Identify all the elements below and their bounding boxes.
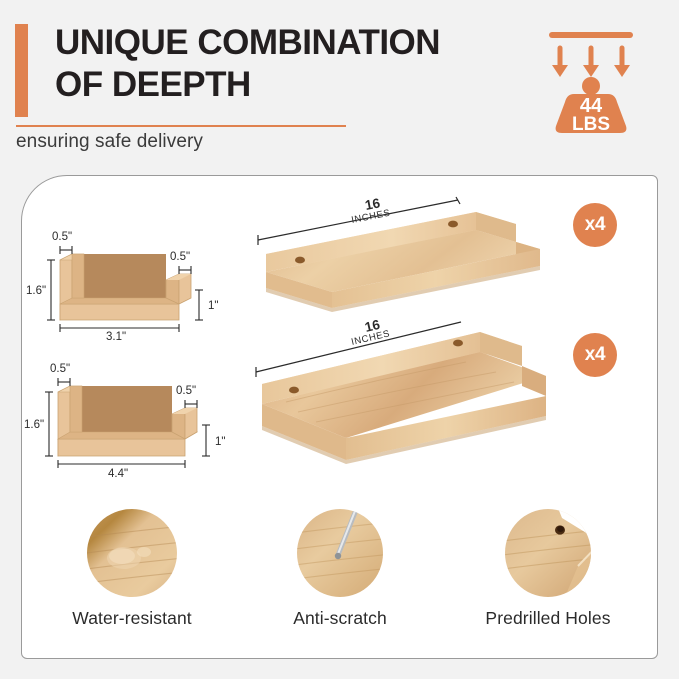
title-divider (16, 125, 346, 127)
dim-lip-height (195, 290, 203, 320)
page-title-line-1: UNIQUE COMBINATION (55, 22, 525, 64)
weight-unit: LBS (572, 114, 610, 135)
feature-label: Anti-scratch (293, 608, 387, 629)
page-title: UNIQUE COMBINATION OF DEEPTH (55, 22, 525, 106)
feature-list: Water-resistant (34, 508, 646, 643)
deep-shelf-illustration: 16 INCHES (246, 320, 572, 480)
dim-back-height (47, 260, 55, 320)
shallow-shelf-illustration: 16 INCHES (248, 196, 568, 316)
dim-label-back-height: 1.6" (26, 285, 46, 297)
dim-back-height (45, 392, 53, 456)
accent-bar (15, 24, 28, 117)
nail-scratch-wood-icon (292, 508, 388, 598)
dim-label-wall-thickness-left: 0.5" (50, 363, 70, 375)
feature-label: Predrilled Holes (485, 608, 610, 629)
small-shelf-profile: 0.5" 0.5" 1.6" 1" 3.1" (24, 228, 224, 340)
quantity-badge-shallow-shelf: x4 (573, 203, 617, 247)
shelf-length-unit: INCHES (350, 208, 391, 226)
predrilled-hole-icon (453, 340, 463, 347)
water-droplet-wood-icon (84, 508, 180, 598)
weight-load-icon: 44 LBS (541, 26, 641, 136)
predrilled-hole-wood-icon (500, 508, 596, 598)
dim-label-back-height: 1.6" (24, 419, 44, 431)
infographic-root: UNIQUE COMBINATION OF DEEPTH ensuring sa… (0, 0, 679, 679)
dim-lip-height (202, 425, 210, 456)
page-title-line-2: OF DEEPTH (55, 64, 525, 106)
dim-depth (58, 460, 185, 468)
dim-label-lip-thickness-right: 0.5" (170, 251, 190, 263)
predrilled-hole-icon (295, 257, 305, 264)
dim-label-lip-height: 1" (215, 436, 225, 448)
profile-wood-shape (60, 254, 191, 320)
dim-lip-thickness-right (185, 400, 197, 408)
dim-label-depth: 3.1" (106, 331, 126, 340)
dim-wall-thickness-left (58, 378, 70, 386)
feature-item-predrilled-holes: Predrilled Holes (450, 508, 646, 643)
dim-label-depth: 4.4" (108, 468, 128, 478)
feature-item-water-resistant: Water-resistant (34, 508, 230, 643)
predrilled-hole-icon (448, 221, 458, 228)
dim-label-lip-thickness-right: 0.5" (176, 385, 196, 397)
feature-label: Water-resistant (72, 608, 192, 629)
large-shelf-profile: 0.5" 0.5" 1.6" 1" 4.4" (22, 358, 232, 478)
subtitle: ensuring safe delivery (16, 131, 203, 153)
dim-label-wall-thickness-left: 0.5" (52, 231, 72, 243)
dim-wall-thickness-left (60, 246, 72, 254)
dim-lip-thickness-right (179, 266, 191, 274)
dim-label-lip-height: 1" (208, 300, 218, 312)
predrilled-hole-icon (289, 387, 299, 394)
feature-item-anti-scratch: Anti-scratch (242, 508, 438, 643)
quantity-badge-deep-shelf: x4 (573, 333, 617, 377)
